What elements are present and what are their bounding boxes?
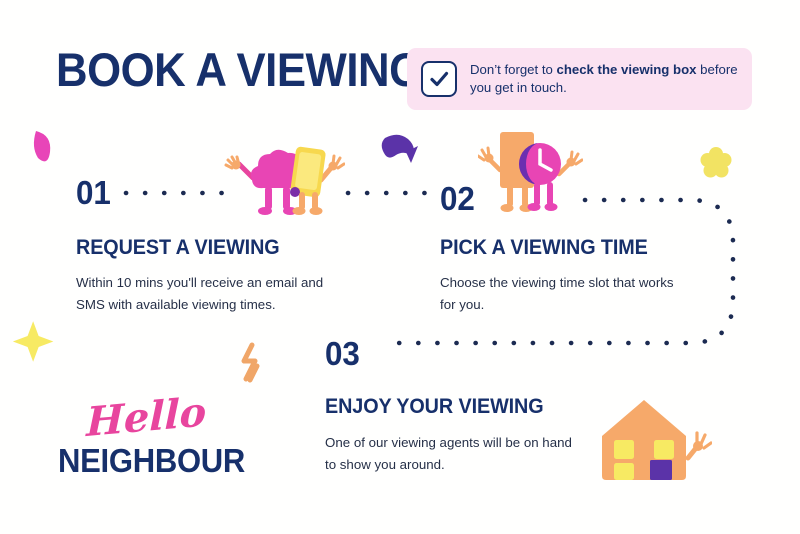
yellow-sparkle-left (13, 321, 53, 361)
brand-logo: Hello NEIGHBOUR (58, 404, 238, 477)
logo-script-word: Hello (86, 391, 238, 442)
step-number-03: 03 (325, 337, 360, 370)
yellow-flower (701, 147, 732, 178)
step-body-02: Choose the viewing time slot that works … (440, 272, 690, 315)
step-body-03: One of our viewing agents will be on han… (325, 432, 580, 475)
callout-text-before: Don’t forget to (470, 62, 557, 77)
step-heading-01: REQUEST A VIEWING (76, 237, 280, 259)
illustration-blob-character-with-phone (215, 140, 345, 218)
purple-arrow-swoosh (382, 135, 418, 163)
orange-lightning-squiggle (244, 345, 257, 380)
step-heading-03: ENJOY YOUR VIEWING (325, 396, 544, 418)
callout-text-bold: check the viewing box (557, 62, 697, 77)
waving-hand-icon (688, 433, 711, 458)
step-heading-02: PICK A VIEWING TIME (440, 237, 648, 259)
pink-swoosh-top-left (34, 131, 50, 161)
logo-block-word: NEIGHBOUR (58, 444, 227, 477)
step-number-02: 02 (440, 182, 475, 215)
step-body-01: Within 10 mins you'll receive an email a… (76, 272, 346, 315)
checkbox-checked-icon[interactable] (421, 61, 457, 97)
step-number-01: 01 (76, 176, 111, 209)
infographic-canvas: BOOK A VIEWING Don’t forget to check the… (0, 0, 800, 534)
orange-character-with-phone (290, 146, 344, 215)
pink-clock-character (519, 143, 582, 211)
callout-text: Don’t forget to check the viewing box be… (470, 61, 738, 97)
illustration-house-waving (592, 392, 712, 492)
page-title: BOOK A VIEWING (56, 46, 423, 93)
check-glyph (428, 68, 450, 90)
house-shape (602, 400, 686, 480)
illustration-door-character-with-clock (478, 128, 583, 216)
callout-banner: Don’t forget to check the viewing box be… (407, 48, 752, 110)
